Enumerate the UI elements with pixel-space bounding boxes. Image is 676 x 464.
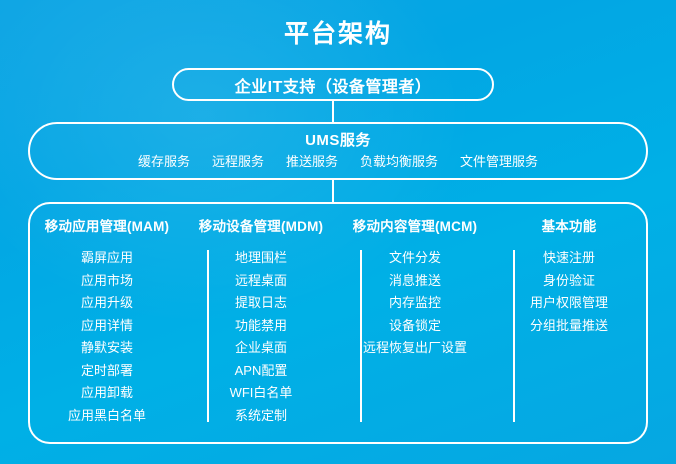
node-ums-service[interactable]: UMS服务 缓存服务 远程服务 推送服务 负载均衡服务 文件管理服务	[28, 122, 648, 180]
ums-service-item[interactable]: 远程服务	[212, 153, 264, 171]
column-mam: 移动应用管理(MAM) 霸屏应用 应用市场 应用升级 应用详情 静默安装 定时部…	[30, 204, 184, 442]
list-item[interactable]: 身份验证	[543, 270, 595, 293]
list-item[interactable]: WFI白名单	[230, 382, 293, 405]
list-item[interactable]: 系统定制	[235, 405, 287, 428]
column-basic-functions: 基本功能 快速注册 身份验证 用户权限管理 分组批量推送	[492, 204, 646, 442]
list-item[interactable]: 提取日志	[235, 292, 287, 315]
column-basic-functions-items: 快速注册 身份验证 用户权限管理 分组批量推送	[530, 247, 608, 337]
list-item[interactable]: 静默安装	[81, 337, 133, 360]
column-divider-2	[360, 250, 362, 422]
list-item[interactable]: 用户权限管理	[530, 292, 608, 315]
list-item[interactable]: 应用黑白名单	[68, 405, 146, 428]
column-mam-header: 移动应用管理(MAM)	[45, 217, 169, 237]
column-mcm-header: 移动内容管理(MCM)	[353, 217, 477, 237]
list-item[interactable]: 分组批量推送	[530, 315, 608, 338]
list-item[interactable]: 快速注册	[543, 247, 595, 270]
list-item[interactable]: 远程桌面	[235, 270, 287, 293]
ums-service-item[interactable]: 负载均衡服务	[360, 153, 438, 171]
list-item[interactable]: 霸屏应用	[81, 247, 133, 270]
column-divider-3	[513, 250, 515, 422]
column-mcm-items: 文件分发 消息推送 内存监控 设备锁定 远程恢复出厂设置	[363, 247, 467, 360]
capability-columns: 移动应用管理(MAM) 霸屏应用 应用市场 应用升级 应用详情 静默安装 定时部…	[30, 204, 646, 442]
list-item[interactable]: 应用详情	[81, 315, 133, 338]
list-item[interactable]: 企业桌面	[235, 337, 287, 360]
list-item[interactable]: 远程恢复出厂设置	[363, 337, 467, 360]
list-item[interactable]: 定时部署	[81, 360, 133, 383]
list-item[interactable]: 文件分发	[389, 247, 441, 270]
column-mdm-items: 地理围栏 远程桌面 提取日志 功能禁用 企业桌面 APN配置 WFI白名单 系统…	[230, 247, 293, 427]
ums-service-list: 缓存服务 远程服务 推送服务 负载均衡服务 文件管理服务	[138, 153, 538, 171]
list-item[interactable]: 应用市场	[81, 270, 133, 293]
platform-architecture-diagram: 平台架构 企业IT支持（设备管理者） UMS服务 缓存服务 远程服务 推送服务 …	[0, 0, 676, 464]
list-item[interactable]: 地理围栏	[235, 247, 287, 270]
connector-line-top	[332, 100, 334, 123]
capability-matrix-panel: 移动应用管理(MAM) 霸屏应用 应用市场 应用升级 应用详情 静默安装 定时部…	[28, 202, 648, 444]
column-mam-items: 霸屏应用 应用市场 应用升级 应用详情 静默安装 定时部署 应用卸载 应用黑白名…	[68, 247, 146, 427]
column-mdm-header: 移动设备管理(MDM)	[199, 217, 323, 237]
list-item[interactable]: 应用卸载	[81, 382, 133, 405]
connector-line-middle	[332, 180, 334, 202]
list-item[interactable]: 设备锁定	[389, 315, 441, 338]
node-enterprise-it-support-label: 企业IT支持（设备管理者）	[235, 73, 432, 97]
page-title: 平台架构	[0, 18, 676, 50]
list-item[interactable]: 消息推送	[389, 270, 441, 293]
list-item[interactable]: 应用升级	[81, 292, 133, 315]
node-enterprise-it-support[interactable]: 企业IT支持（设备管理者）	[172, 68, 494, 101]
list-item[interactable]: APN配置	[235, 360, 288, 383]
list-item[interactable]: 功能禁用	[235, 315, 287, 338]
list-item[interactable]: 内存监控	[389, 292, 441, 315]
node-ums-service-title: UMS服务	[305, 131, 371, 151]
column-divider-1	[207, 250, 209, 422]
ums-service-item[interactable]: 缓存服务	[138, 153, 190, 171]
column-basic-functions-header: 基本功能	[542, 217, 597, 237]
ums-service-item[interactable]: 文件管理服务	[460, 153, 538, 171]
ums-service-item[interactable]: 推送服务	[286, 153, 338, 171]
